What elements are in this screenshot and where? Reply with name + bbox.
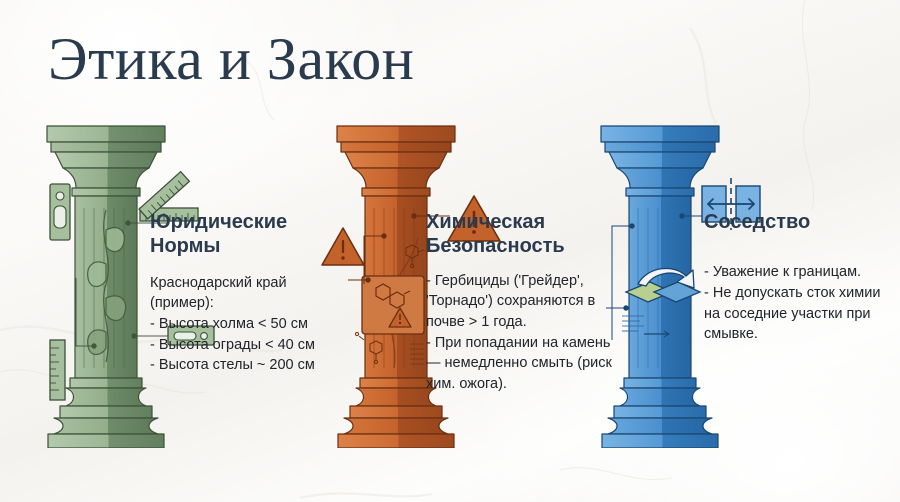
spirit-level-icon [50,184,70,240]
legal-norms-body: Краснодарский край (пример): - Высота хо… [150,273,332,376]
infographic-canvas: Этика и Закон [0,0,900,502]
measuring-ruler-icon [50,340,65,400]
chemical-label-icon [362,276,424,334]
neighborhood-text: Соседство - Уважение к границам. - Не до… [704,210,900,345]
legal-norms-heading: Юридические Нормы [150,210,332,259]
neighborhood-body: - Уважение к границам. - Не допускать ст… [704,262,900,344]
neighborhood-heading: Соседство [704,210,900,234]
legal-norms-text: Юридические Нормы Краснодарский край (пр… [150,210,332,376]
page-title: Этика и Закон [48,28,414,91]
warning-triangle-small-icon [322,228,364,265]
